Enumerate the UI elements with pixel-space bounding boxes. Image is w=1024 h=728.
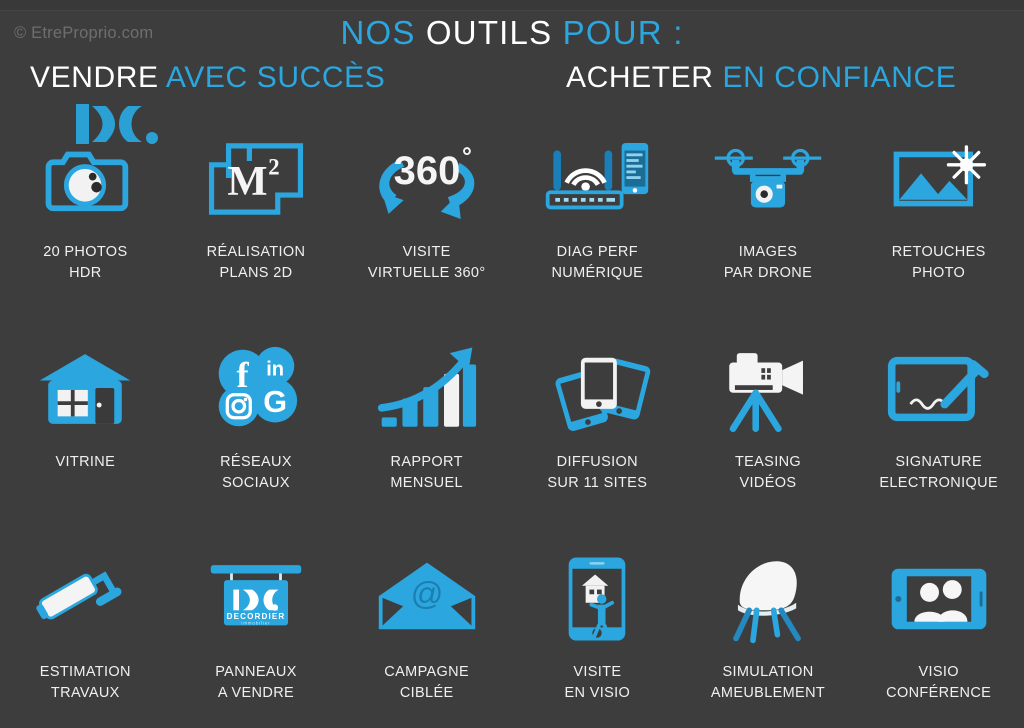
sign-brand-sub: immobilier [241,620,270,625]
tool-item-signature-electronique[interactable]: SIGNATURE ELECTRONIQUE [853,338,1024,548]
tablets-icon [537,338,657,440]
floorplan-m2-icon: M 2 [196,128,316,230]
envelope-at-icon: @ [367,548,487,650]
subtitle-vendre-white: VENDRE [30,61,159,94]
tool-item-simulation-ameublement[interactable]: SIMULATION AMEUBLEMENT [683,548,854,728]
linkedin-glyph: in [266,359,284,381]
subtitles: VENDRE AVEC SUCCÈS ACHETER EN CONFIANCE [0,61,1024,103]
tool-item-20-photos-hdr[interactable]: 20 PHOTOS HDR [0,128,171,338]
360-text: 360 [393,149,460,193]
page-title: NOS OUTILS POUR : [0,14,1024,52]
subtitle-acheter-blue: EN CONFIANCE [714,61,957,94]
tool-label: SIGNATURE ELECTRONIQUE [879,452,998,493]
title-part-pour: POUR : [552,14,683,51]
tool-item-visite-360[interactable]: 360 ° VISITE VIRTUELLE 360° [341,128,512,338]
tool-item-panneaux-a-vendre[interactable]: DECORDIER immobilier PANNEAUX A VENDRE [171,548,342,728]
tool-label: PANNEAUX A VENDRE [215,662,297,703]
tool-item-rapport-mensuel[interactable]: RAPPORT MENSUEL [341,338,512,548]
m2-letter: M [227,158,267,205]
tool-label: DIAG PERF NUMÉRIQUE [551,242,643,283]
tool-item-retouches-photo[interactable]: RETOUCHES PHOTO [853,128,1024,338]
at-glyph: @ [410,576,443,612]
degree-symbol: ° [462,144,472,171]
tablet-signature-icon [879,338,999,440]
tool-label: ESTIMATION TRAVAUX [40,662,131,703]
tool-label: VISITE VIRTUELLE 360° [368,242,486,283]
camera-icon [25,128,145,230]
tool-label: SIMULATION AMEUBLEMENT [711,662,825,703]
subtitle-acheter: ACHETER EN CONFIANCE [566,61,956,95]
tool-item-visio-conference[interactable]: VISIO CONFÉRENCE [853,548,1024,728]
drone-icon [708,128,828,230]
tool-label: VISITE EN VISIO [565,662,631,703]
tool-label: VITRINE [56,452,116,473]
subtitle-vendre-blue: AVEC SUCCÈS [159,61,386,94]
tool-item-visite-en-visio[interactable]: VISITE EN VISIO [512,548,683,728]
tool-item-diag-perf[interactable]: DIAG PERF NUMÉRIQUE [512,128,683,338]
tool-item-campagne-ciblee[interactable]: @ CAMPAGNE CIBLÉE [341,548,512,728]
tool-item-teasing-videos[interactable]: TEASING VIDÉOS [683,338,854,548]
subtitle-acheter-white: ACHETER [566,61,714,94]
photo-retouch-icon [879,128,999,230]
router-wifi-phone-icon [537,128,657,230]
shop-house-icon [25,338,145,440]
paint-roller-icon [25,548,145,650]
tool-item-reseaux-sociaux[interactable]: f in G RÉSEAUX SOCIAUX [171,338,342,548]
tool-label: RETOUCHES PHOTO [892,242,986,283]
tool-label: CAMPAGNE CIBLÉE [384,662,469,703]
tool-label: RÉALISATION PLANS 2D [207,242,306,283]
phone-visit-icon [537,548,657,650]
tool-label: VISIO CONFÉRENCE [886,662,991,703]
tool-label: RAPPORT MENSUEL [390,452,463,493]
360-arrows-icon: 360 ° [367,128,487,230]
for-sale-sign-icon: DECORDIER immobilier [196,548,316,650]
tools-grid: 20 PHOTOS HDR M 2 RÉALISATION PLANS 2D 3… [0,128,1024,728]
title-part-outils: OUTILS [426,14,552,51]
top-band [0,0,1024,11]
tool-item-estimation-travaux[interactable]: ESTIMATION TRAVAUX [0,548,171,728]
google-glyph: G [263,385,287,419]
title-part-nos: NOS [340,14,425,51]
bar-chart-arrow-icon [367,338,487,440]
subtitle-vendre: VENDRE AVEC SUCCÈS [30,61,385,95]
m2-exponent: 2 [268,154,279,179]
tool-label: DIFFUSION SUR 11 SITES [547,452,647,493]
tool-label: 20 PHOTOS HDR [43,242,127,283]
social-networks-icon: f in G [196,338,316,440]
sign-brand-text: DECORDIER [227,612,286,621]
chair-icon [708,548,828,650]
tool-item-diffusion[interactable]: DIFFUSION SUR 11 SITES [512,338,683,548]
tool-label: TEASING VIDÉOS [735,452,801,493]
tool-item-images-drone[interactable]: IMAGES PAR DRONE [683,128,854,338]
tablet-people-icon [879,548,999,650]
tool-item-vitrine[interactable]: VITRINE [0,338,171,548]
video-camera-tripod-icon [708,338,828,440]
facebook-glyph: f [237,355,250,395]
tool-label: IMAGES PAR DRONE [724,242,812,283]
tool-label: RÉSEAUX SOCIAUX [220,452,292,493]
tool-item-plans-2d[interactable]: M 2 RÉALISATION PLANS 2D [171,128,342,338]
